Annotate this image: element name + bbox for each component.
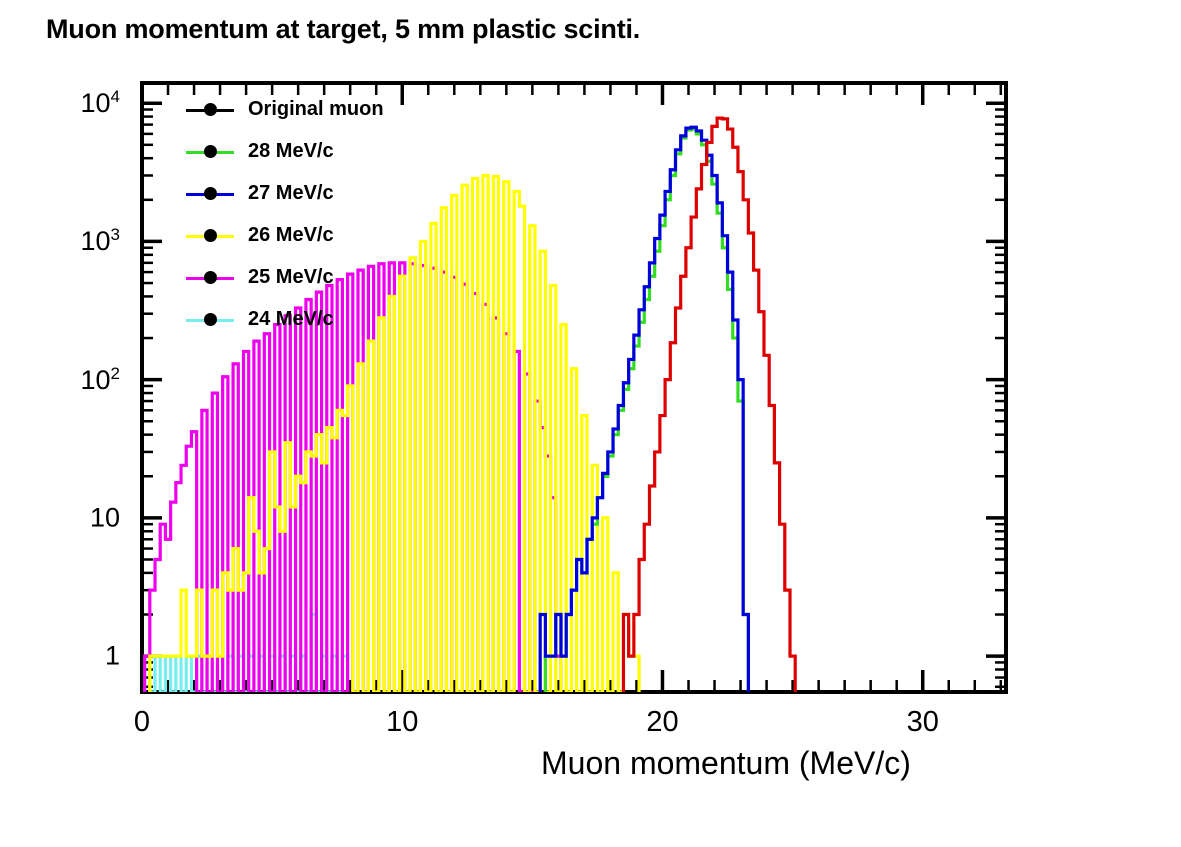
plot-frame xyxy=(142,83,1006,692)
legend-marker-dot xyxy=(204,271,217,284)
x-tick-label: 30 xyxy=(907,706,939,739)
y-tick-label: 103 xyxy=(0,225,120,257)
y-tick-label: 104 xyxy=(0,87,120,119)
legend-label: Original muon xyxy=(248,98,384,121)
x-tick-label: 0 xyxy=(134,706,150,739)
x-tick-label: 20 xyxy=(646,706,678,739)
x-axis-label: Muon momentum (MeV/c) xyxy=(541,745,911,782)
series-group xyxy=(145,118,796,692)
legend-marker-dot xyxy=(204,313,217,326)
chart-page: Muon momentum at target, 5 mm plastic sc… xyxy=(0,0,1181,847)
legend-marker-dot xyxy=(204,187,217,200)
y-tick-label: 102 xyxy=(0,364,120,396)
legend-label: 26 MeV/c xyxy=(248,224,334,247)
legend-label: 25 MeV/c xyxy=(248,266,334,289)
y-tick-label: 1 xyxy=(0,641,120,672)
y-tick-label: 10 xyxy=(0,502,120,533)
plot-canvas xyxy=(0,0,1181,847)
legend-label: 24 MeV/c xyxy=(248,308,334,331)
legend-marker-dot xyxy=(204,145,217,158)
legend-marker-dot xyxy=(204,229,217,242)
series-curve xyxy=(623,118,795,692)
x-tick-label: 10 xyxy=(386,706,418,739)
legend-label: 28 MeV/c xyxy=(248,140,334,163)
legend-marker-dot xyxy=(204,103,217,116)
legend-label: 27 MeV/c xyxy=(248,182,334,205)
